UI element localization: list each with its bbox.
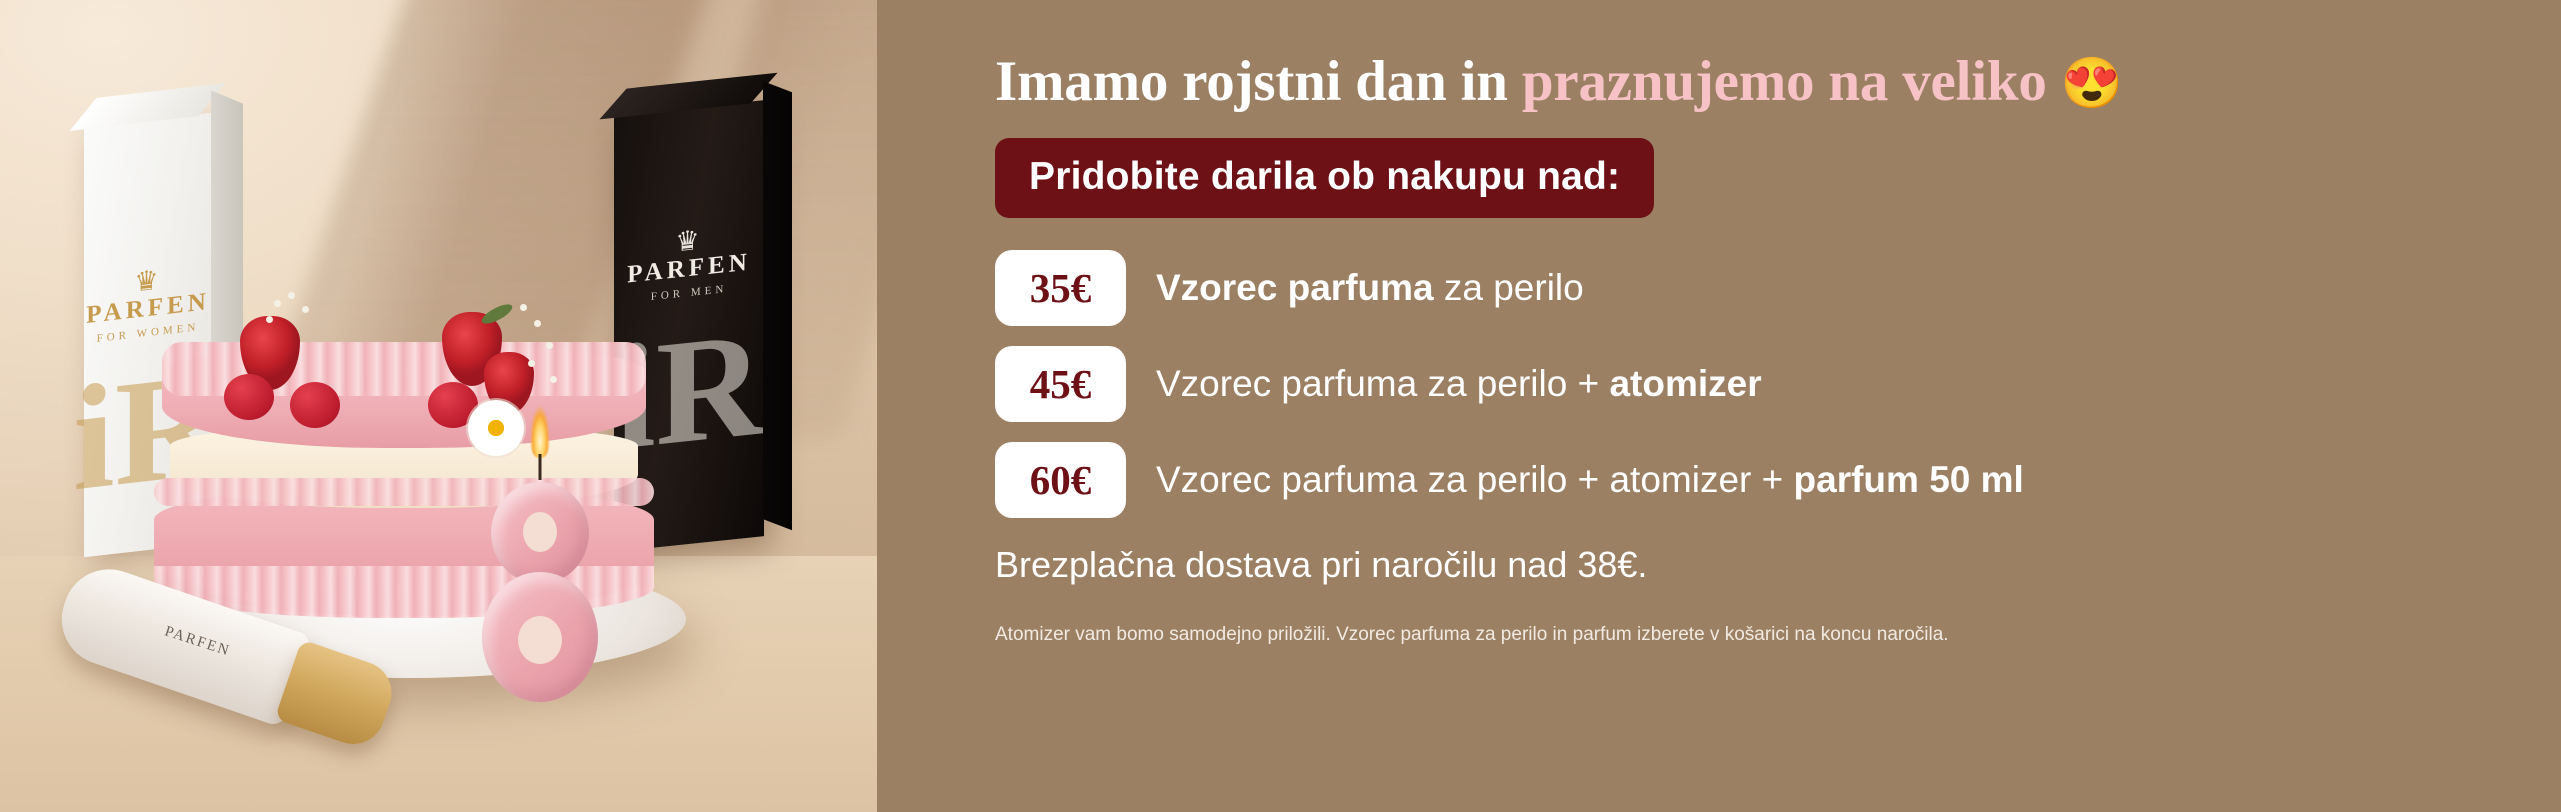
daisy-flower xyxy=(468,400,524,456)
tier-description-rest: za perilo xyxy=(1434,267,1584,308)
shipping-note: Brezplačna dostava pri naročilu nad 38€. xyxy=(995,544,2561,586)
number-candle xyxy=(476,476,604,708)
headline: Imamo rojstni dan in praznujemo na velik… xyxy=(995,52,2561,112)
promo-content: Imamo rojstni dan in praznujemo na velik… xyxy=(877,0,2561,812)
candle-hole-bottom xyxy=(518,616,562,664)
offer-badge: Pridobite darila ob nakupu nad: xyxy=(995,138,1654,218)
price-chip: 60€ xyxy=(995,442,1126,518)
headline-part1: Imamo rojstni dan in xyxy=(995,50,1522,113)
price-chip: 35€ xyxy=(995,250,1126,326)
candle-hole-top xyxy=(523,512,557,552)
product-photo: ♛ PARFEN FOR WOMEN iR ♛ PARFEN FOR MEN i… xyxy=(0,0,877,812)
raspberry xyxy=(224,374,274,420)
tier-row: 35€ Vzorec parfuma za perilo xyxy=(995,250,2561,326)
raspberry xyxy=(290,382,340,428)
tier-row: 45€ Vzorec parfuma za perilo + atomizer xyxy=(995,346,2561,422)
price-chip: 45€ xyxy=(995,346,1126,422)
tier-description-bold: Vzorec parfuma xyxy=(1156,267,1434,308)
heart-cake xyxy=(154,290,654,610)
heart-eyes-emoji-icon: 😍 xyxy=(2061,55,2123,111)
tier-description-bold: parfum 50 ml xyxy=(1794,459,2024,500)
tier-row: 60€ Vzorec parfuma za perilo + atomizer … xyxy=(995,442,2561,518)
tier-description: Vzorec parfuma za perilo + atomizer + pa… xyxy=(1156,460,2024,501)
fine-print: Atomizer vam bomo samodejno priložili. V… xyxy=(995,624,2561,646)
candle-wick xyxy=(539,454,542,480)
tier-list: 35€ Vzorec parfuma za perilo 45€ Vzorec … xyxy=(995,250,2561,518)
promo-banner: ♛ PARFEN FOR WOMEN iR ♛ PARFEN FOR MEN i… xyxy=(0,0,2561,812)
tier-description-rest: Vzorec parfuma za perilo + xyxy=(1156,363,1609,404)
tier-description: Vzorec parfuma za perilo xyxy=(1156,268,1584,309)
headline-part2: praznujemo na veliko xyxy=(1522,50,2047,113)
tier-description: Vzorec parfuma za perilo + atomizer xyxy=(1156,364,1762,405)
tier-description-bold: atomizer xyxy=(1609,363,1761,404)
tier-description-rest: Vzorec parfuma za perilo + atomizer + xyxy=(1156,459,1794,500)
